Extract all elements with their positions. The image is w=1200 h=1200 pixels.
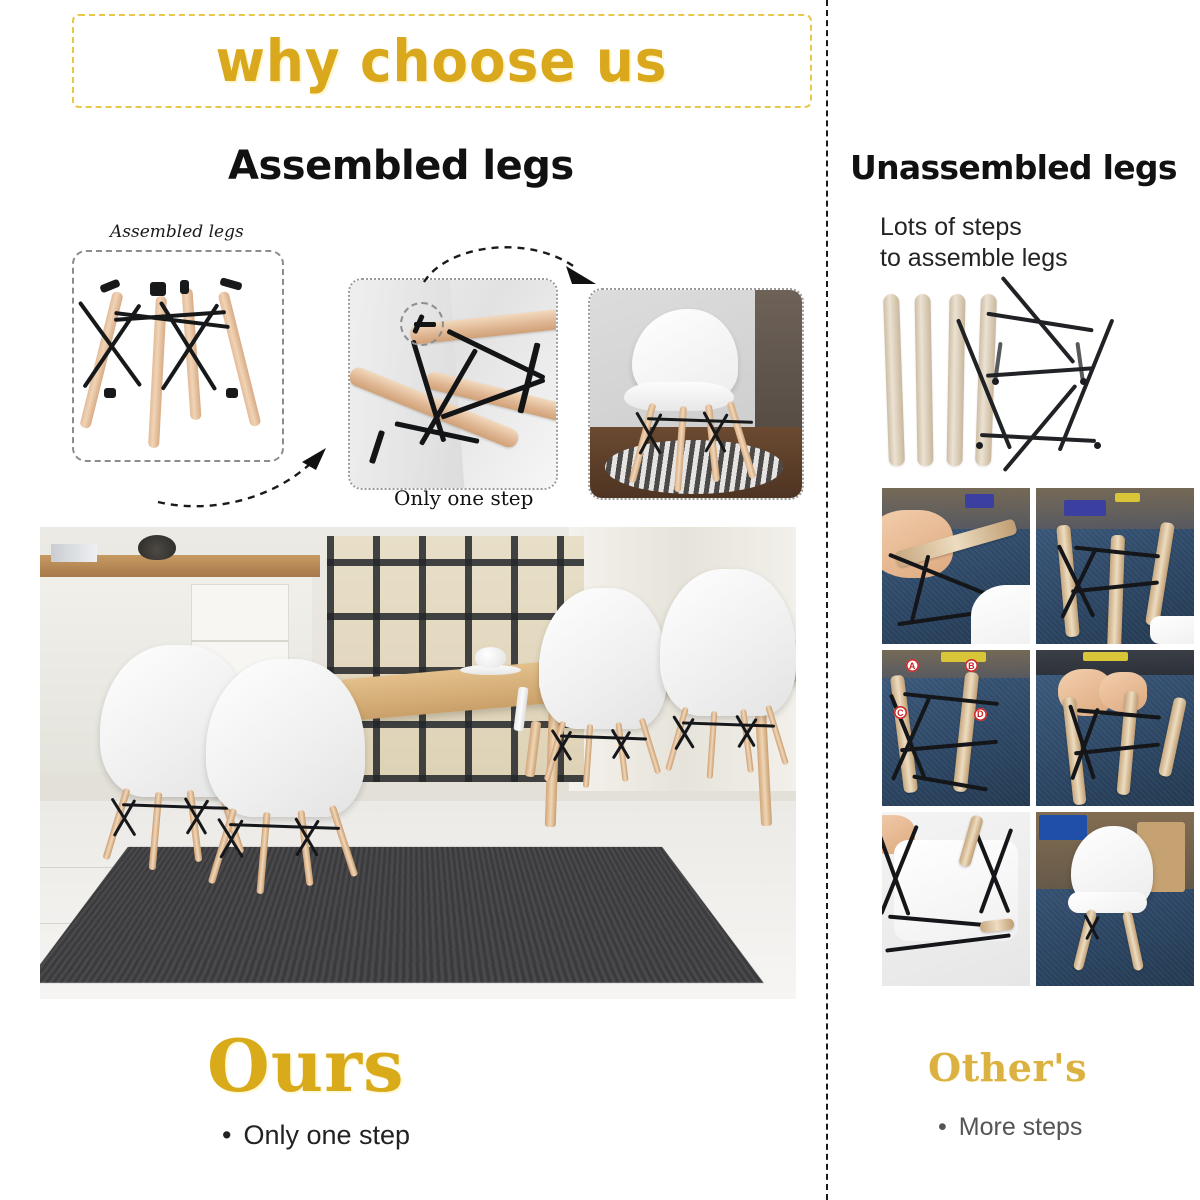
only-one-step-caption: Only one step bbox=[394, 486, 533, 510]
joint-tag-d: D bbox=[974, 708, 987, 721]
chair-back-left bbox=[539, 588, 668, 815]
joint-tag-a: A bbox=[906, 659, 919, 672]
subheading-line-1: Lots of steps bbox=[880, 212, 1068, 243]
panel-divider bbox=[826, 0, 828, 1200]
dining-room-photo bbox=[40, 527, 796, 999]
step-photo-hands-fitting-frame bbox=[1034, 648, 1196, 808]
right-panel-subheading: Lots of steps to assemble legs bbox=[880, 212, 1068, 273]
step-photo-finished-chair bbox=[1034, 810, 1196, 988]
assembled-legs-illustration bbox=[72, 250, 284, 462]
others-bullet-text: More steps bbox=[959, 1113, 1083, 1141]
title-banner: why choose us bbox=[72, 14, 812, 108]
others-bullet: •More steps bbox=[938, 1113, 1082, 1142]
assembly-step-photos: A B C D bbox=[880, 486, 1196, 992]
ours-label: Ours bbox=[207, 1023, 405, 1108]
unassembled-parts bbox=[872, 286, 1192, 482]
step-photo-legs-and-frame bbox=[1034, 486, 1196, 646]
legs-drawing bbox=[74, 252, 282, 460]
assembled-legs-caption: Assembled legs bbox=[110, 222, 244, 242]
chair-front-right bbox=[206, 659, 365, 914]
chair-back-right bbox=[660, 569, 796, 805]
ours-bullet-text: Only one step bbox=[243, 1120, 410, 1150]
step-photo-attaching-seat bbox=[880, 810, 1032, 988]
bullet-dot-right: • bbox=[938, 1113, 947, 1141]
dowel-leg-1 bbox=[883, 294, 905, 466]
arrow-legs-to-closeup bbox=[150, 440, 360, 510]
infographic-root: why choose us Assembled legs Unassembled… bbox=[0, 0, 1200, 1200]
joint-tag-c: C bbox=[894, 706, 907, 719]
step-photo-hand-with-leg bbox=[880, 486, 1032, 646]
others-label: Other's bbox=[928, 1045, 1087, 1090]
right-panel-heading: Unassembled legs bbox=[850, 148, 1177, 187]
left-panel-heading: Assembled legs bbox=[228, 143, 574, 189]
step-photo-labelled-joints: A B C D bbox=[880, 648, 1032, 808]
chair-image bbox=[590, 290, 802, 498]
page-title: why choose us bbox=[216, 27, 668, 95]
bullet-dot-left: • bbox=[222, 1120, 231, 1150]
dowel-leg-2 bbox=[915, 294, 934, 466]
ours-bullet: •Only one step bbox=[222, 1120, 410, 1151]
finished-chair-photo bbox=[588, 288, 804, 500]
closeup-image bbox=[350, 280, 556, 488]
subheading-line-2: to assemble legs bbox=[880, 243, 1068, 274]
